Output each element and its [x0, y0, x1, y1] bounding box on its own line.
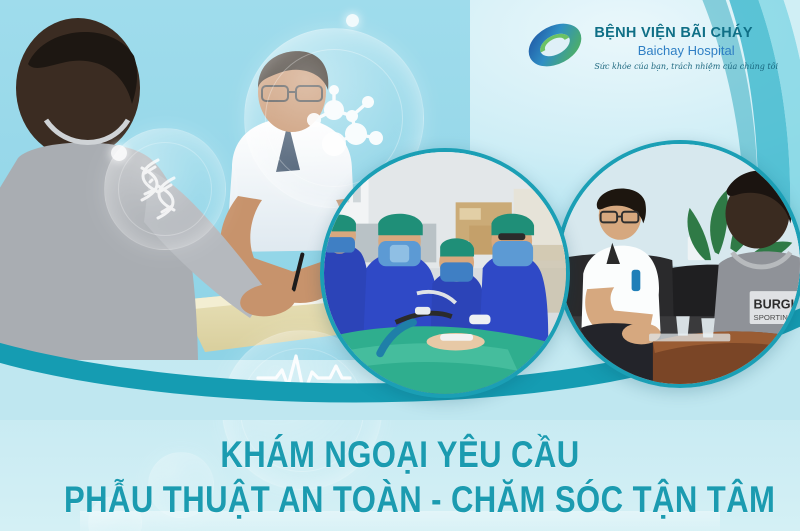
- hospital-name-en: Baichay Hospital: [594, 44, 778, 58]
- swirl-ellipse-logo-icon: [524, 16, 586, 74]
- brand-text-block: BỆNH VIỆN BÃI CHÁY Baichay Hospital Sức …: [594, 16, 778, 71]
- headline-line-2: PHẪU THUẬT AN TOÀN - CHĂM SÓC TẬN TÂM: [64, 477, 736, 523]
- dna-helix-icon: [128, 156, 198, 226]
- molecule-icon: [294, 72, 386, 164]
- headline-block: KHÁM NGOẠI YÊU CẦU PHẪU THUẬT AN TOÀN - …: [0, 433, 800, 523]
- poster-banner: BURGH SPORTING: [0, 0, 800, 531]
- surgery-operating-room-photo: [320, 148, 570, 398]
- hospital-tagline: Sức khỏe của bạn, trách nhiệm của chúng …: [594, 62, 778, 71]
- hospital-name-vi: BỆNH VIỆN BÃI CHÁY: [594, 26, 778, 42]
- svg-text:SPORTING: SPORTING: [754, 313, 794, 322]
- decor-dot: [346, 14, 359, 27]
- hospital-logo-block: BỆNH VIỆN BÃI CHÁY Baichay Hospital Sức …: [524, 16, 778, 74]
- doctor-patient-office-photo: BURGH SPORTING: [556, 140, 800, 388]
- svg-text:BURGH: BURGH: [754, 298, 800, 312]
- headline-line-1: KHÁM NGOẠI YÊU CẦU: [64, 433, 736, 477]
